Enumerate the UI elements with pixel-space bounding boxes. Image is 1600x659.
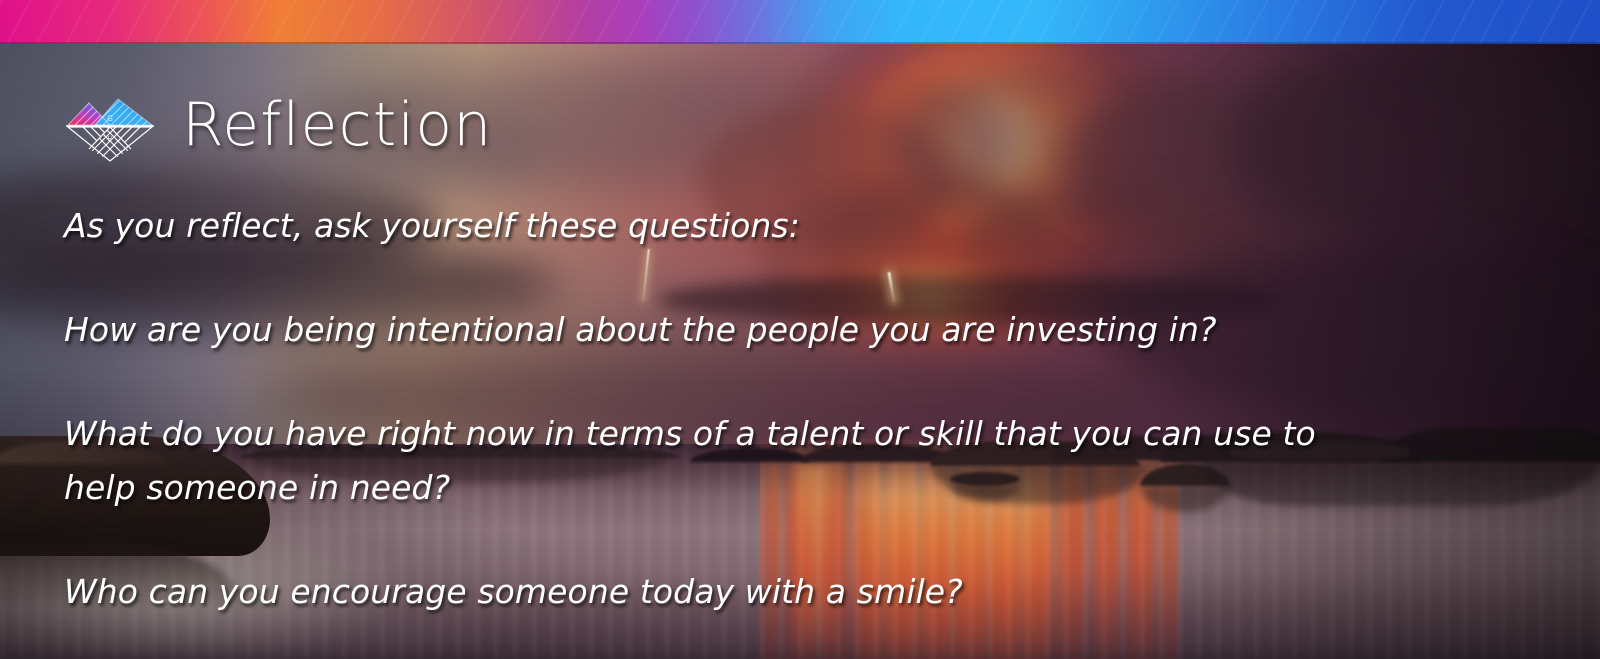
reflection-questions-list: As you reflect, ask yourself these quest…	[64, 199, 1484, 619]
gradient-accent-bar	[0, 0, 1600, 44]
accent-bar-diagonal-stripes	[0, 0, 1600, 44]
slide-canvas: G	[0, 0, 1600, 659]
logo-letter-lower: R	[108, 134, 113, 142]
reflection-mountain-diamond-logo: G	[64, 88, 156, 162]
logo-letter-upper: G	[107, 114, 113, 123]
intro-text: As you reflect, ask yourself these quest…	[64, 199, 1394, 253]
page-title: Reflection	[182, 95, 493, 155]
slide-content: G	[0, 44, 1600, 659]
accent-bar-underline	[0, 42, 1600, 44]
slide-header: G	[64, 88, 493, 162]
reflection-question: How are you being intentional about the …	[64, 303, 1394, 357]
reflection-question: What do you have right now in terms of a…	[64, 407, 1394, 515]
reflection-question: Who can you encourage someone today with…	[64, 565, 1394, 619]
